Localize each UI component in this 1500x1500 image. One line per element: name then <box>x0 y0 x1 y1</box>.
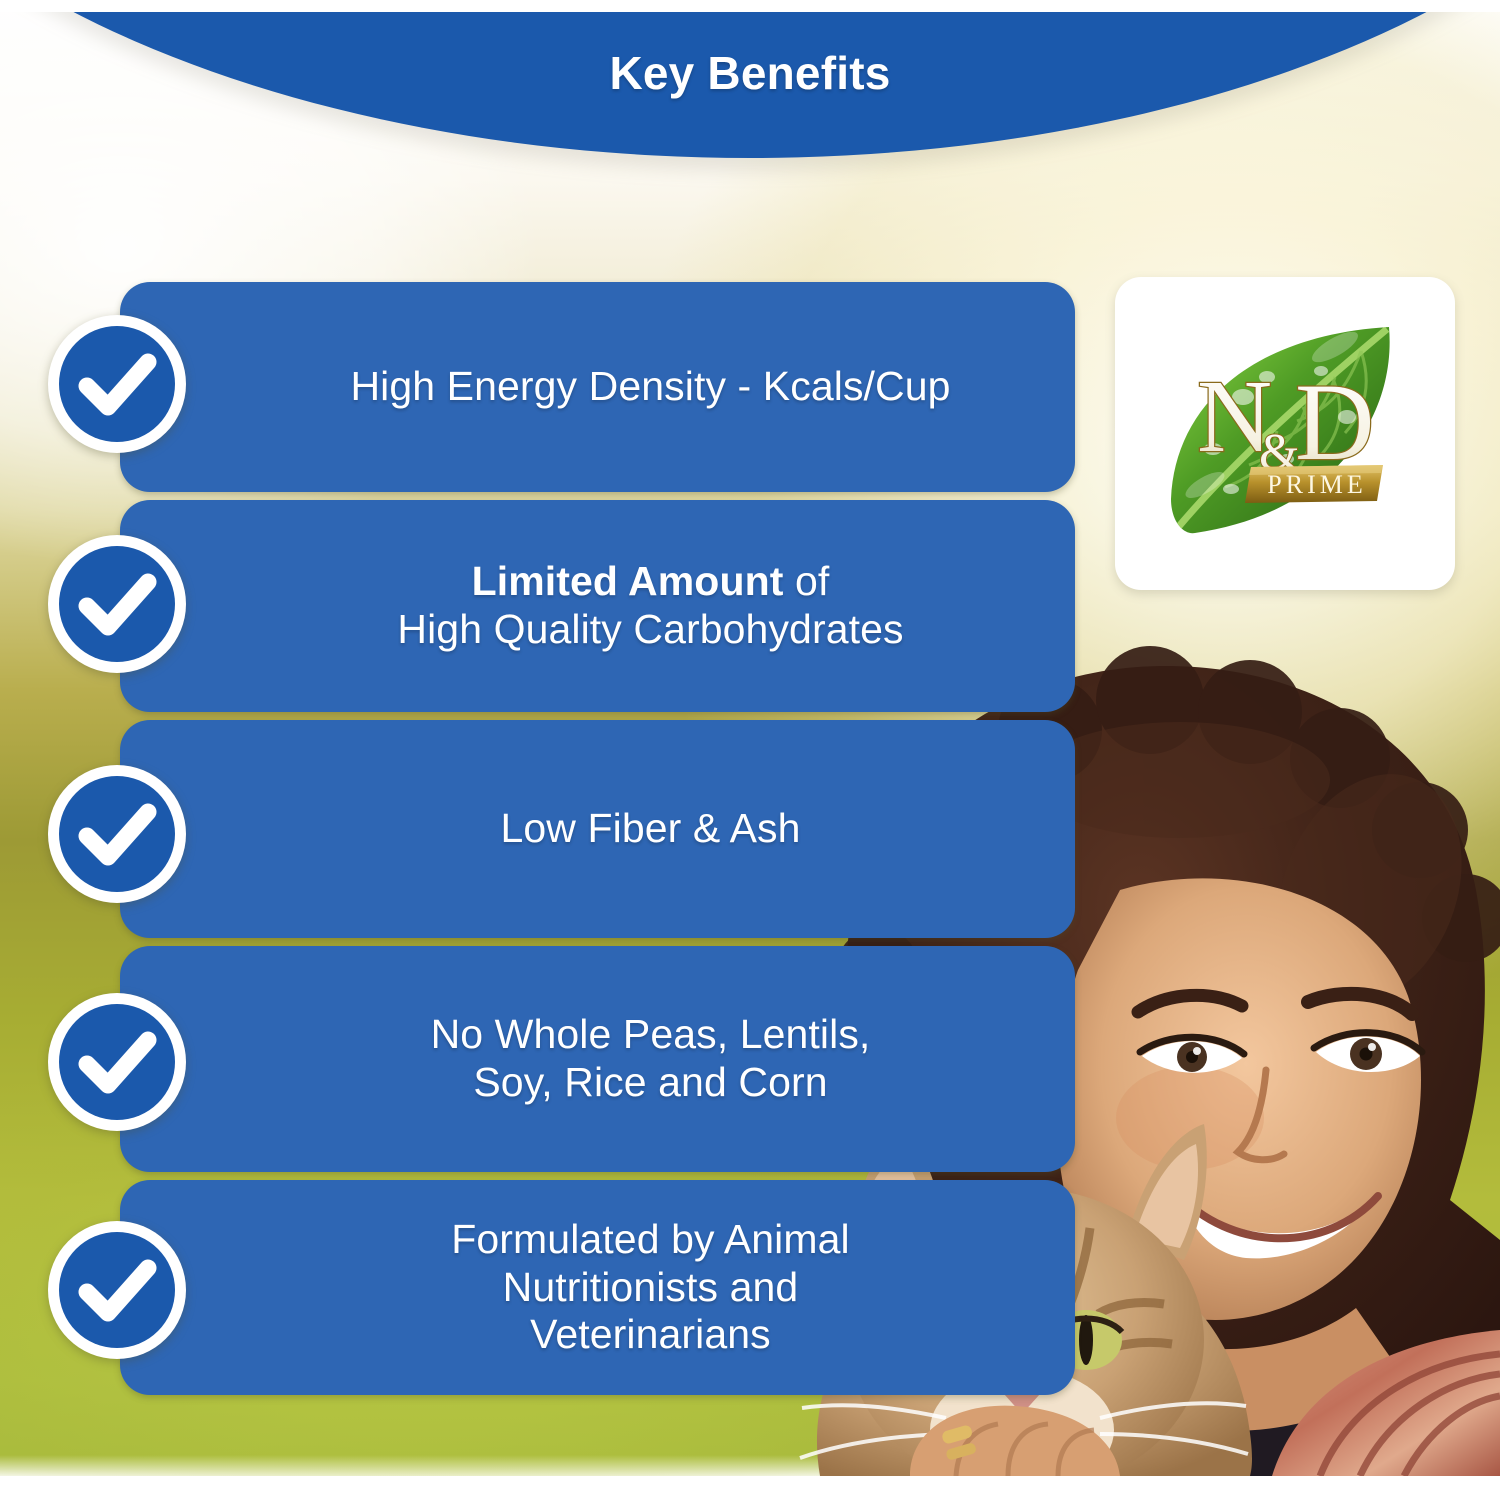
benefit-bar-limited-carbohydrates: Limited Amount of High Quality Carbohydr… <box>120 500 1075 712</box>
check-icon <box>45 312 189 456</box>
benefit-label: High Energy Density - Kcals/Cup <box>220 363 974 411</box>
benefit-label-bold: Limited Amount <box>472 558 784 604</box>
check-icon <box>45 1218 189 1362</box>
nd-prime-logo-card: N & D PRIME <box>1115 277 1455 590</box>
benefit-bar-no-fillers: No Whole Peas, Lentils, Soy, Rice and Co… <box>120 946 1075 1172</box>
prime-ribbon: PRIME <box>1245 465 1383 503</box>
benefit-label: No Whole Peas, Lentils, Soy, Rice and Co… <box>301 1011 895 1107</box>
nd-prime-logo: N & D PRIME <box>1135 299 1435 569</box>
benefit-label: Limited Amount of High Quality Carbohydr… <box>267 558 927 654</box>
benefit-bar-formulated-by-experts: Formulated by Animal Nutritionists and V… <box>120 1180 1075 1395</box>
prime-ribbon-label: PRIME <box>1267 470 1366 499</box>
logo-letter-d: D <box>1295 361 1374 483</box>
infographic-canvas: Key Benefits High Energy Density - Kcals… <box>0 0 1500 1500</box>
benefit-bar-high-energy-density: High Energy Density - Kcals/Cup <box>120 282 1075 492</box>
benefit-bar-low-fiber-ash: Low Fiber & Ash <box>120 720 1075 938</box>
check-icon <box>45 762 189 906</box>
check-icon <box>45 990 189 1134</box>
benefit-label: Low Fiber & Ash <box>370 805 824 853</box>
page-title: Key Benefits <box>0 46 1500 100</box>
check-icon <box>45 532 189 676</box>
benefit-label: Formulated by Animal Nutritionists and V… <box>321 1216 874 1360</box>
benefits-list: High Energy Density - Kcals/Cup Limited … <box>0 0 1500 1500</box>
